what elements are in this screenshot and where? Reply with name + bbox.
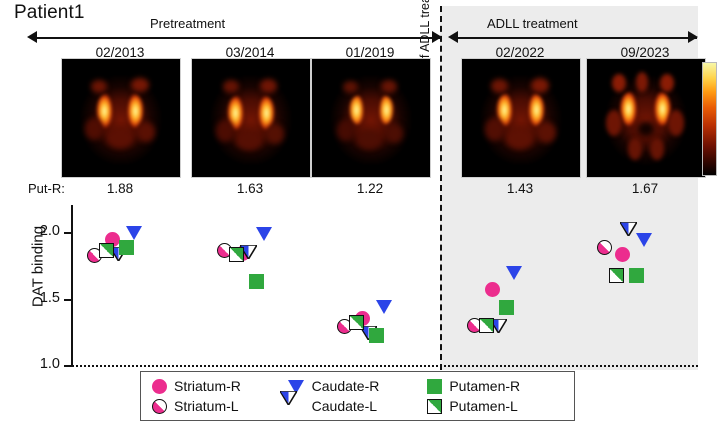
treatment-phase-label: ADLL treatment <box>487 16 578 31</box>
pet-scan-image-2 <box>191 58 311 178</box>
data-point-caudate-r-03/2014 <box>256 227 272 241</box>
y-tick-2.0 <box>64 232 72 234</box>
data-point-putamen-l-02/2022 <box>479 318 494 333</box>
data-point-striatum-l-09/2023 <box>597 240 612 255</box>
data-point-striatum-r-09/2023 <box>615 247 630 262</box>
putr-value-3: 1.22 <box>310 181 430 196</box>
circle-half-pink-icon <box>151 398 167 414</box>
data-point-caudate-r-02/2022 <box>506 266 522 280</box>
data-point-caudate-r-01/2019 <box>376 300 392 314</box>
pet-scan-image-5 <box>586 58 706 178</box>
data-point-putamen-l-09/2023 <box>609 268 624 283</box>
putr-value-4: 1.43 <box>460 181 580 196</box>
legend-item-striatum-l: Striatum-L <box>151 398 289 414</box>
legend-item-striatum-r: Striatum-R <box>151 378 289 394</box>
pretreatment-phase-label: Pretreatment <box>150 16 225 31</box>
pet-scan-image-4 <box>461 58 581 178</box>
page-title: Patient1 <box>14 2 85 24</box>
data-point-putamen-l-03/2014 <box>229 247 244 262</box>
data-point-putamen-r-02/2022 <box>499 300 514 315</box>
treatment-timeline-axis <box>452 37 697 39</box>
brain-uptake-render <box>473 66 569 170</box>
brain-uptake-render <box>598 66 694 170</box>
triangle-down-half-blue-icon <box>289 398 305 414</box>
data-point-putamen-l-01/2019 <box>349 315 364 330</box>
data-point-putamen-r-01/2019 <box>369 328 384 343</box>
data-point-putamen-r-09/2023 <box>629 268 644 283</box>
legend-item-putamen-l: Putamen-L <box>426 398 564 414</box>
data-point-putamen-l-02/2013 <box>99 243 114 258</box>
y-tick-label-1.0: 1.0 <box>20 356 60 372</box>
pet-scan-image-1 <box>61 58 181 178</box>
pet-intensity-colorbar <box>702 62 717 176</box>
data-point-striatum-r-02/2022 <box>485 282 500 297</box>
treatment-arrow-right-icon <box>688 31 698 43</box>
legend-label-putamen-l: Putamen-L <box>449 398 517 414</box>
brain-uptake-render <box>73 66 169 170</box>
legend-label-putamen-r: Putamen-R <box>449 378 520 394</box>
legend: Striatum-R Caudate-R Putamen-R Striatum-… <box>140 371 575 421</box>
treatment-start-divider <box>440 6 442 370</box>
legend-label-caudate-l: Caudate-L <box>312 398 377 414</box>
legend-label-striatum-r: Striatum-R <box>174 378 241 394</box>
y-axis-title: DAT binding <box>30 207 47 327</box>
square-half-green-icon <box>426 398 442 414</box>
brain-uptake-render <box>203 66 299 170</box>
data-point-caudate-r-09/2023 <box>636 233 652 247</box>
treatment-arrow-left-icon <box>448 31 458 43</box>
brain-uptake-render <box>323 66 419 170</box>
putr-value-5: 1.67 <box>585 181 705 196</box>
circle-filled-pink-icon <box>151 378 167 394</box>
legend-item-caudate-r: Caudate-R <box>289 378 427 394</box>
timeline-arrow-left-icon <box>27 31 37 43</box>
pet-scan-image-3 <box>311 58 431 178</box>
putr-value-2: 1.63 <box>190 181 310 196</box>
y-axis-line <box>71 205 73 367</box>
y-tick-1.0 <box>64 365 72 367</box>
data-point-caudate-r-02/2013 <box>126 226 142 240</box>
data-point-caudate-l-09/2023 <box>620 222 637 236</box>
legend-item-putamen-r: Putamen-R <box>426 378 564 394</box>
y-tick-1.5 <box>64 299 72 301</box>
pretreatment-timeline-axis <box>36 37 441 39</box>
legend-label-striatum-l: Striatum-L <box>174 398 239 414</box>
legend-label-caudate-r: Caudate-R <box>312 378 380 394</box>
data-point-putamen-r-02/2013 <box>119 240 134 255</box>
legend-item-caudate-l: Caudate-L <box>289 398 427 414</box>
square-filled-green-icon <box>426 378 442 394</box>
baseline-dotted-line <box>72 365 698 367</box>
putr-value-1: 1.88 <box>60 181 180 196</box>
data-point-putamen-r-03/2014 <box>249 274 264 289</box>
